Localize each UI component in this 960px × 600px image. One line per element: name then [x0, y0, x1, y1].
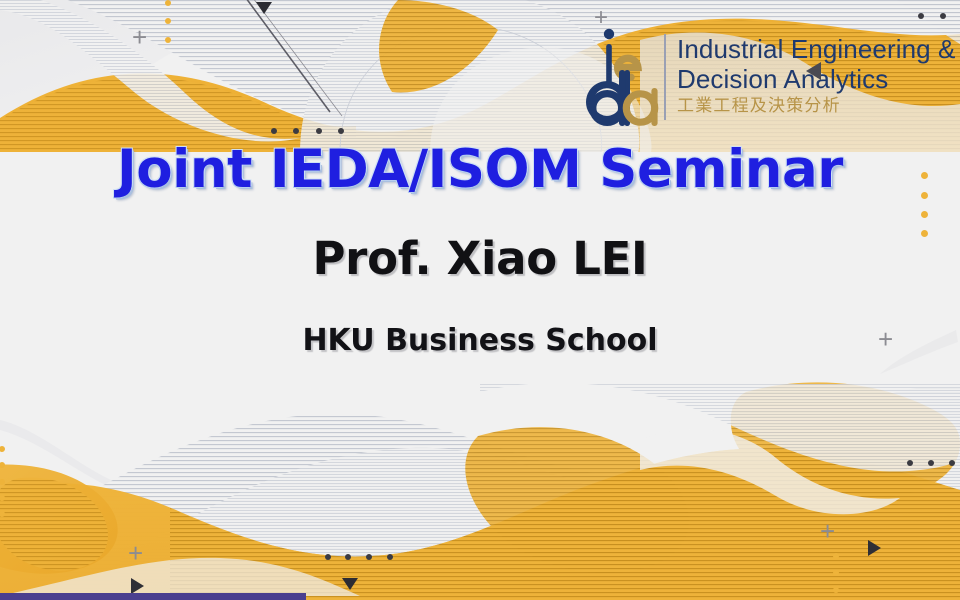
dot [928, 460, 934, 466]
dot [387, 554, 393, 560]
dot [0, 462, 5, 468]
bottom-accent-bar [0, 593, 306, 600]
dot [907, 460, 913, 466]
dot [316, 128, 322, 134]
seminar-title-row: Joint IEDA/ISOM Seminar [0, 140, 960, 200]
logo-divider-rule [664, 34, 666, 120]
seminar-poster-slide: + + + + + [0, 0, 960, 600]
dot [918, 13, 924, 19]
dot [0, 495, 5, 501]
logo-chinese-subtitle: 工業工程及決策分析 [677, 95, 955, 117]
dot [366, 554, 372, 560]
dot [921, 211, 928, 218]
logo-line-1: Industrial Engineering & [677, 34, 955, 64]
dot [293, 128, 299, 134]
dot [0, 479, 5, 485]
dot [833, 553, 839, 559]
plus-icon-bottom-center: + [820, 518, 835, 544]
speaker-affiliation: HKU Business School [302, 322, 657, 360]
speaker-name: Prof. Xiao LEI [313, 232, 648, 286]
ieda-logo: Industrial Engineering & Decision Analyt… [586, 26, 955, 130]
dot [271, 128, 277, 134]
dot [338, 128, 344, 134]
speaker-name-row: Prof. Xiao LEI [0, 232, 960, 286]
triangle-top-left-icon [256, 2, 272, 14]
dot [949, 460, 955, 466]
dot [345, 554, 351, 560]
ieda-monogram-icon [586, 26, 664, 130]
cursor-triangle-icon [806, 62, 821, 80]
triangle-bottom-center-icon [342, 578, 358, 590]
dot [325, 554, 331, 560]
dot [833, 570, 839, 576]
triangle-bottom-left-icon [131, 578, 144, 594]
dot [0, 511, 5, 517]
dot [833, 587, 839, 593]
affiliation-row: HKU Business School [0, 322, 960, 360]
seminar-title: Joint IEDA/ISOM Seminar [117, 140, 843, 200]
plus-icon-bottom-left: + [128, 540, 143, 566]
dot [165, 18, 171, 24]
plus-icon-top-left: + [132, 24, 147, 50]
dot [0, 446, 5, 452]
dot [940, 13, 946, 19]
triangle-bottom-right-icon [868, 540, 881, 556]
dot [165, 0, 171, 6]
ieda-logo-mark [586, 26, 664, 130]
dot [165, 37, 171, 43]
